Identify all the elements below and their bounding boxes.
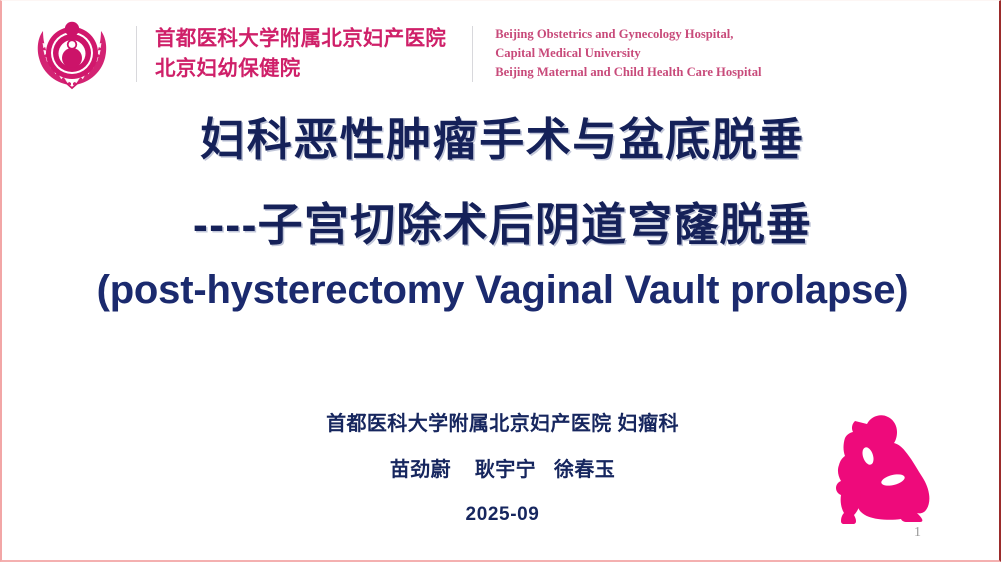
header-divider-2 [472,26,473,82]
presentation-slide: 首都医科大学附属北京妇产医院 北京妇幼保健院 Beijing Obstetric… [0,0,1001,562]
letterhead-header: 首都医科大学附属北京妇产医院 北京妇幼保健院 Beijing Obstetric… [2,1,1001,106]
org-en-line-3: Beijing Maternal and Child Health Care H… [495,63,761,82]
title-block: 妇科恶性肿瘤手术与盆底脱垂 ----子宫切除术后阴道穹窿脱垂 (post-hys… [2,113,1001,313]
page-number: 1 [914,526,921,540]
organization-name-chinese: 首都医科大学附属北京妇产医院 北京妇幼保健院 [155,24,446,82]
slide-title-english: (post-hysterectomy Vaginal Vault prolaps… [2,267,1001,313]
header-divider-1 [136,26,137,82]
slide-title-main: 妇科恶性肿瘤手术与盆底脱垂 [2,113,1001,166]
org-cn-line-1: 首都医科大学附属北京妇产医院 [155,27,446,50]
hospital-emblem-logo-icon [30,12,114,96]
org-en-line-1: Beijing Obstetrics and Gynecology Hospit… [495,25,761,44]
mother-and-child-silhouette-icon [811,408,967,528]
org-cn-line-2: 北京妇幼保健院 [155,54,446,83]
organization-name-english: Beijing Obstetrics and Gynecology Hospit… [495,25,761,82]
slide-title-subtitle: ----子宫切除术后阴道穹窿脱垂 [2,198,1001,251]
org-en-line-2: Capital Medical University [495,44,761,63]
